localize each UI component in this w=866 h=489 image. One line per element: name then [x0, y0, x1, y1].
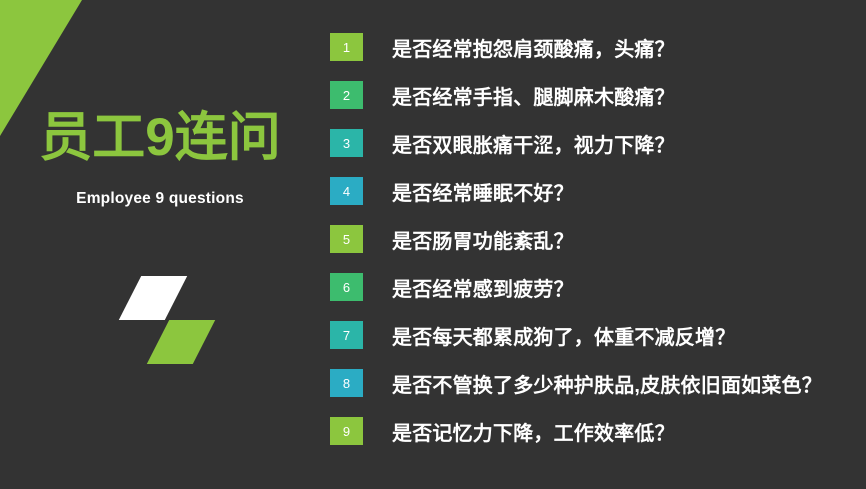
question-text: 是否经常睡眠不好？: [392, 177, 574, 206]
list-item: 8 是否不管换了多少种护肤品,皮肤依旧面如菜色？: [330, 366, 866, 400]
question-text: 是否每天都累成狗了，体重不减反增？: [392, 321, 735, 350]
list-item: 1 是否经常抱怨肩颈酸痛，头痛？: [330, 30, 866, 64]
question-number-badge: 4: [330, 177, 363, 205]
logo-parallelogram-white-icon: [119, 276, 187, 320]
list-item: 6 是否经常感到疲劳？: [330, 270, 866, 304]
question-text: 是否经常感到疲劳？: [392, 273, 574, 302]
question-number-badge: 7: [330, 321, 363, 349]
question-text: 是否经常手指、腿脚麻木酸痛？: [392, 81, 675, 110]
list-item: 2 是否经常手指、腿脚麻木酸痛？: [330, 78, 866, 112]
question-text: 是否肠胃功能紊乱？: [392, 225, 574, 254]
question-number-badge: 3: [330, 129, 363, 157]
question-text: 是否不管换了多少种护肤品,皮肤依旧面如菜色？: [392, 369, 822, 398]
question-text: 是否经常抱怨肩颈酸痛，头痛？: [392, 33, 675, 62]
question-number-badge: 9: [330, 417, 363, 445]
page-subtitle: Employee 9 questions: [0, 190, 320, 208]
question-list: 1 是否经常抱怨肩颈酸痛，头痛？ 2 是否经常手指、腿脚麻木酸痛？ 3 是否双眼…: [330, 30, 866, 462]
list-item: 7 是否每天都累成狗了，体重不减反增？: [330, 318, 866, 352]
list-item: 9 是否记忆力下降，工作效率低？: [330, 414, 866, 448]
logo-parallelogram-green-icon: [147, 320, 215, 364]
question-number-badge: 2: [330, 81, 363, 109]
question-text: 是否记忆力下降，工作效率低？: [392, 417, 675, 446]
title-block: 员工9连问 Employee 9 questions: [0, 110, 320, 208]
question-number-badge: 6: [330, 273, 363, 301]
slide-canvas: 员工9连问 Employee 9 questions 1 是否经常抱怨肩颈酸痛，…: [0, 0, 866, 489]
logo: [126, 276, 222, 364]
list-item: 4 是否经常睡眠不好？: [330, 174, 866, 208]
question-text: 是否双眼胀痛干涩，视力下降？: [392, 129, 675, 158]
question-number-badge: 5: [330, 225, 363, 253]
list-item: 3 是否双眼胀痛干涩，视力下降？: [330, 126, 866, 160]
page-title: 员工9连问: [0, 110, 320, 166]
question-number-badge: 1: [330, 33, 363, 61]
list-item: 5 是否肠胃功能紊乱？: [330, 222, 866, 256]
question-number-badge: 8: [330, 369, 363, 397]
